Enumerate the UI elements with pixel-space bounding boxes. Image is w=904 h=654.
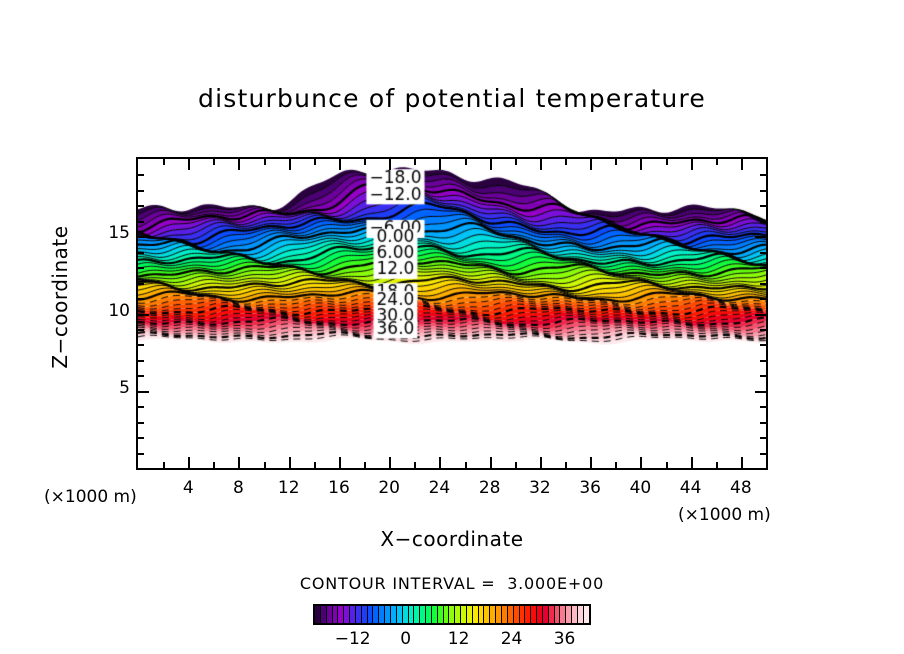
y-tick-label: 15 <box>84 223 130 243</box>
tick-mark <box>188 159 190 170</box>
tick-mark <box>439 457 441 468</box>
tick-mark <box>339 159 341 170</box>
tick-mark <box>760 453 766 455</box>
tick-mark <box>138 267 144 269</box>
tick-mark <box>314 462 316 468</box>
tick-mark <box>716 462 718 468</box>
x-tick-label: 48 <box>711 478 771 498</box>
tick-mark <box>760 329 766 331</box>
colorbar-tick-label: 12 <box>429 629 489 649</box>
tick-mark <box>138 453 144 455</box>
tick-mark <box>691 457 693 468</box>
tick-mark <box>741 159 743 170</box>
tick-mark <box>138 406 144 408</box>
tick-mark <box>389 457 391 468</box>
tick-mark <box>760 190 766 192</box>
tick-mark <box>238 457 240 468</box>
x-axis-units-note: (×1000 m) <box>678 505 771 525</box>
tick-mark <box>138 236 149 238</box>
tick-mark <box>289 159 291 170</box>
tick-mark <box>339 457 341 468</box>
tick-mark <box>264 159 266 165</box>
tick-mark <box>238 159 240 170</box>
tick-mark <box>163 159 165 165</box>
tick-mark <box>314 159 316 165</box>
y-tick-label: 5 <box>84 378 130 398</box>
tick-mark <box>755 314 766 316</box>
tick-mark <box>188 457 190 468</box>
x-axis-title: X−coordinate <box>0 527 904 551</box>
tick-mark <box>138 298 144 300</box>
tick-mark <box>615 462 617 468</box>
tick-mark <box>666 462 668 468</box>
tick-mark <box>138 283 144 285</box>
tick-mark <box>540 159 542 170</box>
contour-interval-label: CONTOUR INTERVAL = 3.000E+00 <box>0 574 904 593</box>
tick-mark <box>755 236 766 238</box>
tick-mark <box>760 375 766 377</box>
tick-mark <box>138 391 149 393</box>
tick-mark <box>615 159 617 165</box>
tick-mark <box>414 159 416 165</box>
tick-mark <box>289 457 291 468</box>
tick-mark <box>760 205 766 207</box>
y-axis-tick-labels: 51015 <box>80 157 130 470</box>
tick-mark <box>540 457 542 468</box>
colorbar-segment <box>584 606 589 623</box>
tick-mark <box>760 406 766 408</box>
tick-mark <box>490 457 492 468</box>
tick-mark <box>138 314 149 316</box>
tick-mark <box>163 462 165 468</box>
tick-mark <box>138 252 144 254</box>
tick-mark <box>515 159 517 165</box>
tick-mark <box>760 174 766 176</box>
y-axis-units-note: (×1000 m) <box>44 487 137 507</box>
tick-mark <box>364 462 366 468</box>
tick-mark <box>716 159 718 165</box>
tick-mark <box>760 437 766 439</box>
tick-mark <box>691 159 693 170</box>
tick-mark <box>138 221 144 223</box>
tick-mark <box>515 462 517 468</box>
contour-plot-area <box>136 157 768 470</box>
tick-mark <box>760 221 766 223</box>
tick-mark <box>760 267 766 269</box>
y-axis-title: Z−coordinate <box>48 197 72 397</box>
tick-mark <box>741 457 743 468</box>
tick-mark <box>138 344 144 346</box>
tick-mark <box>138 422 144 424</box>
tick-mark <box>439 159 441 170</box>
tick-mark <box>465 462 467 468</box>
tick-mark <box>760 283 766 285</box>
colorbar-tick-label: 0 <box>376 629 436 649</box>
tick-mark <box>465 159 467 165</box>
tick-mark <box>138 360 144 362</box>
tick-mark <box>138 205 144 207</box>
tick-mark <box>565 462 567 468</box>
tick-mark <box>760 298 766 300</box>
colorbar-tick-label: 24 <box>482 629 542 649</box>
colorbar <box>313 604 591 625</box>
tick-mark <box>666 159 668 165</box>
y-tick-label: 10 <box>84 301 130 321</box>
tick-mark <box>760 360 766 362</box>
tick-mark <box>138 190 144 192</box>
tick-mark <box>138 174 144 176</box>
colorbar-tick-label: −12 <box>323 629 383 649</box>
tick-mark <box>565 159 567 165</box>
tick-mark <box>490 159 492 170</box>
contour-plot-canvas <box>138 159 766 468</box>
tick-mark <box>640 159 642 170</box>
tick-mark <box>213 462 215 468</box>
tick-mark <box>213 159 215 165</box>
tick-mark <box>760 344 766 346</box>
tick-mark <box>389 159 391 170</box>
tick-mark <box>414 462 416 468</box>
tick-mark <box>138 437 144 439</box>
colorbar-tick-label: 36 <box>535 629 595 649</box>
tick-mark <box>590 159 592 170</box>
colorbar-tick-labels: −120122436 <box>313 629 591 653</box>
page-title: disturbunce of potential temperature <box>0 84 904 113</box>
tick-mark <box>760 422 766 424</box>
tick-mark <box>760 252 766 254</box>
tick-mark <box>590 457 592 468</box>
tick-mark <box>138 375 144 377</box>
tick-mark <box>364 159 366 165</box>
tick-mark <box>138 329 144 331</box>
tick-mark <box>640 457 642 468</box>
tick-mark <box>755 391 766 393</box>
tick-mark <box>264 462 266 468</box>
